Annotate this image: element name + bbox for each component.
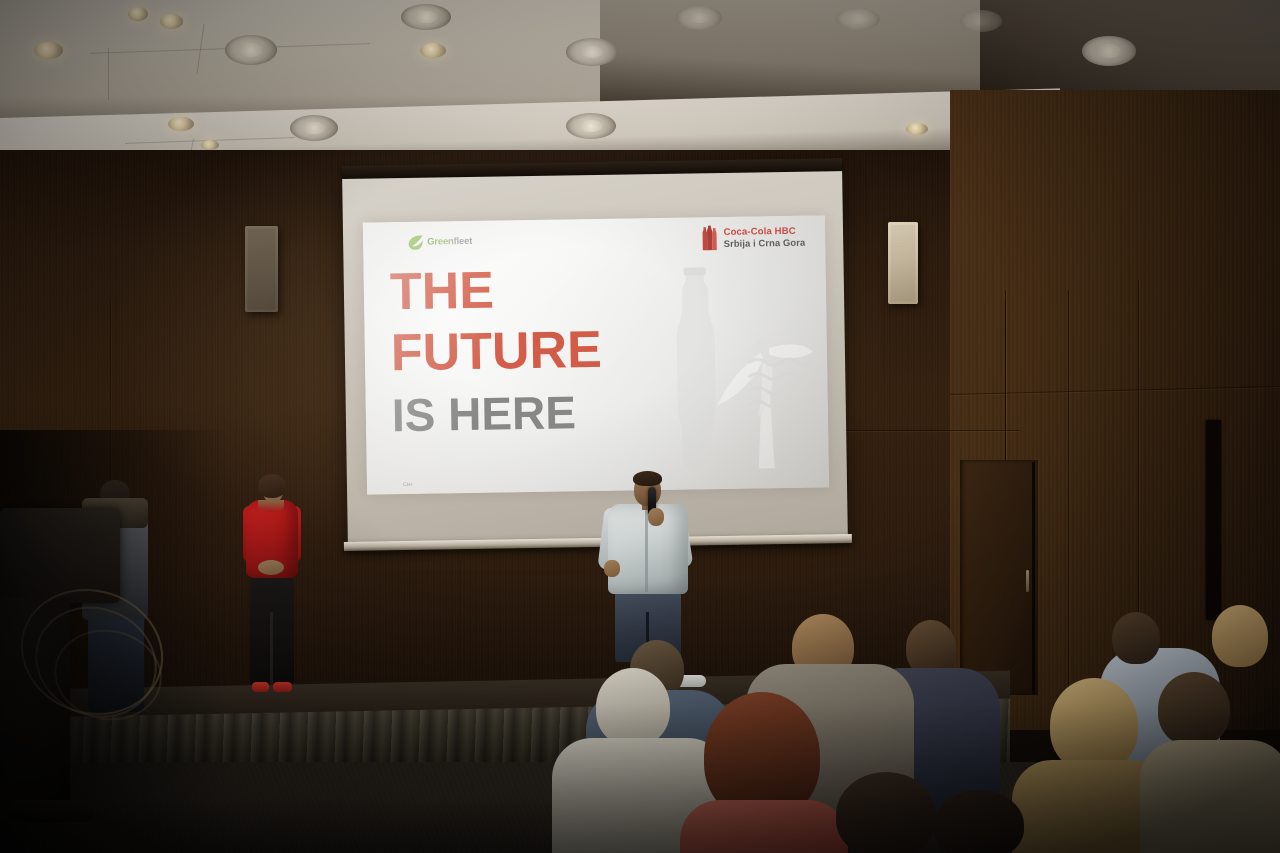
presentation-room-photo: Greenfleet Coca-Cola HBC Srbija i Crna G… [0,0,1280,853]
ceiling-vent [290,115,338,141]
video-camera-on-tripod [0,480,175,853]
red-bottle-cluster-icon [701,225,718,252]
headline-line-2: FUTURE [391,326,603,378]
presenter-female-shoe-right [273,682,292,692]
ceiling-vent [566,113,616,139]
audience-member-beige-jacket-head [1158,672,1230,746]
camera-body [0,508,120,603]
ceiling-vent [676,6,722,30]
wall-recess-slot [1206,420,1221,620]
door-jamb [1032,462,1035,694]
audience-member-dark-hair-back [1112,612,1160,664]
coca-cola-hbc-logo: Coca-Cola HBC Srbija i Crna Gora [701,224,805,253]
speaker-grille [891,225,915,301]
ceiling-vent [566,38,618,66]
greenfleet-logo: Greenfleet [407,233,472,251]
audience-member-grey-hair-white-shirt [596,668,670,746]
presenter-female-shoe-left [252,682,269,692]
headline-line-3: IS HERE [392,391,604,438]
projection-screen: Greenfleet Coca-Cola HBC Srbija i Crna G… [342,158,848,558]
ceiling-vent [836,8,880,30]
ceiling-vent [225,35,277,65]
presenter-female-hands [258,560,284,575]
downlight [160,14,183,29]
water-waves-icon [747,354,814,419]
wall-panel-seam [840,430,1020,431]
coca-cola-hbc-line2: Srbija i Crna Gora [724,237,806,249]
ceiling-vent [1082,36,1136,66]
audience-member-blonde-hair-front [1050,678,1138,772]
coca-cola-hbc-logo-text: Coca-Cola HBC Srbija i Crna Gora [723,227,805,250]
audience-member-beige-jacket [1140,740,1280,853]
speaker-grille [248,229,275,309]
wall-panel-seam [460,560,461,690]
wall-panel-seam [1068,290,1069,720]
presenter-male-right-hand [648,508,664,526]
downlight [906,123,928,135]
ceiling-seam [108,48,109,100]
audience-member-dark-curly-hair [836,772,936,853]
downlight [201,140,219,150]
wall-speaker-right [888,222,918,304]
presenter-female-leg-split [270,612,273,684]
downlight [168,117,194,131]
screen-surface: Greenfleet Coca-Cola HBC Srbija i Crna G… [342,171,848,544]
downlight [420,43,446,58]
downlight [34,42,63,59]
audience-member-coral-top [680,800,848,853]
presenter-female-hair [258,474,286,498]
door-handle[interactable] [1026,570,1029,592]
green-leaf-swoosh-icon [407,234,424,251]
presenter-male-hair [633,471,662,486]
presentation-slide: Greenfleet Coca-Cola HBC Srbija i Crna G… [363,215,829,494]
audience-member-blonde-hair [1212,605,1268,667]
downlight [128,7,148,21]
audience-member-dark-head-front [934,790,1024,853]
greenfleet-logo-text: Greenfleet [427,236,472,248]
slide-graphics [623,242,817,485]
wall-speaker-left [245,226,278,312]
presenter-male-left-hand [604,560,620,577]
headline-line-1: THE [390,265,602,317]
ceiling-vent [401,4,451,30]
ceiling-vent [960,10,1002,32]
slide-headline: THE FUTURE IS HERE [390,265,604,437]
slide-footer-note: CHr [403,482,413,488]
tripod-base [6,800,94,822]
